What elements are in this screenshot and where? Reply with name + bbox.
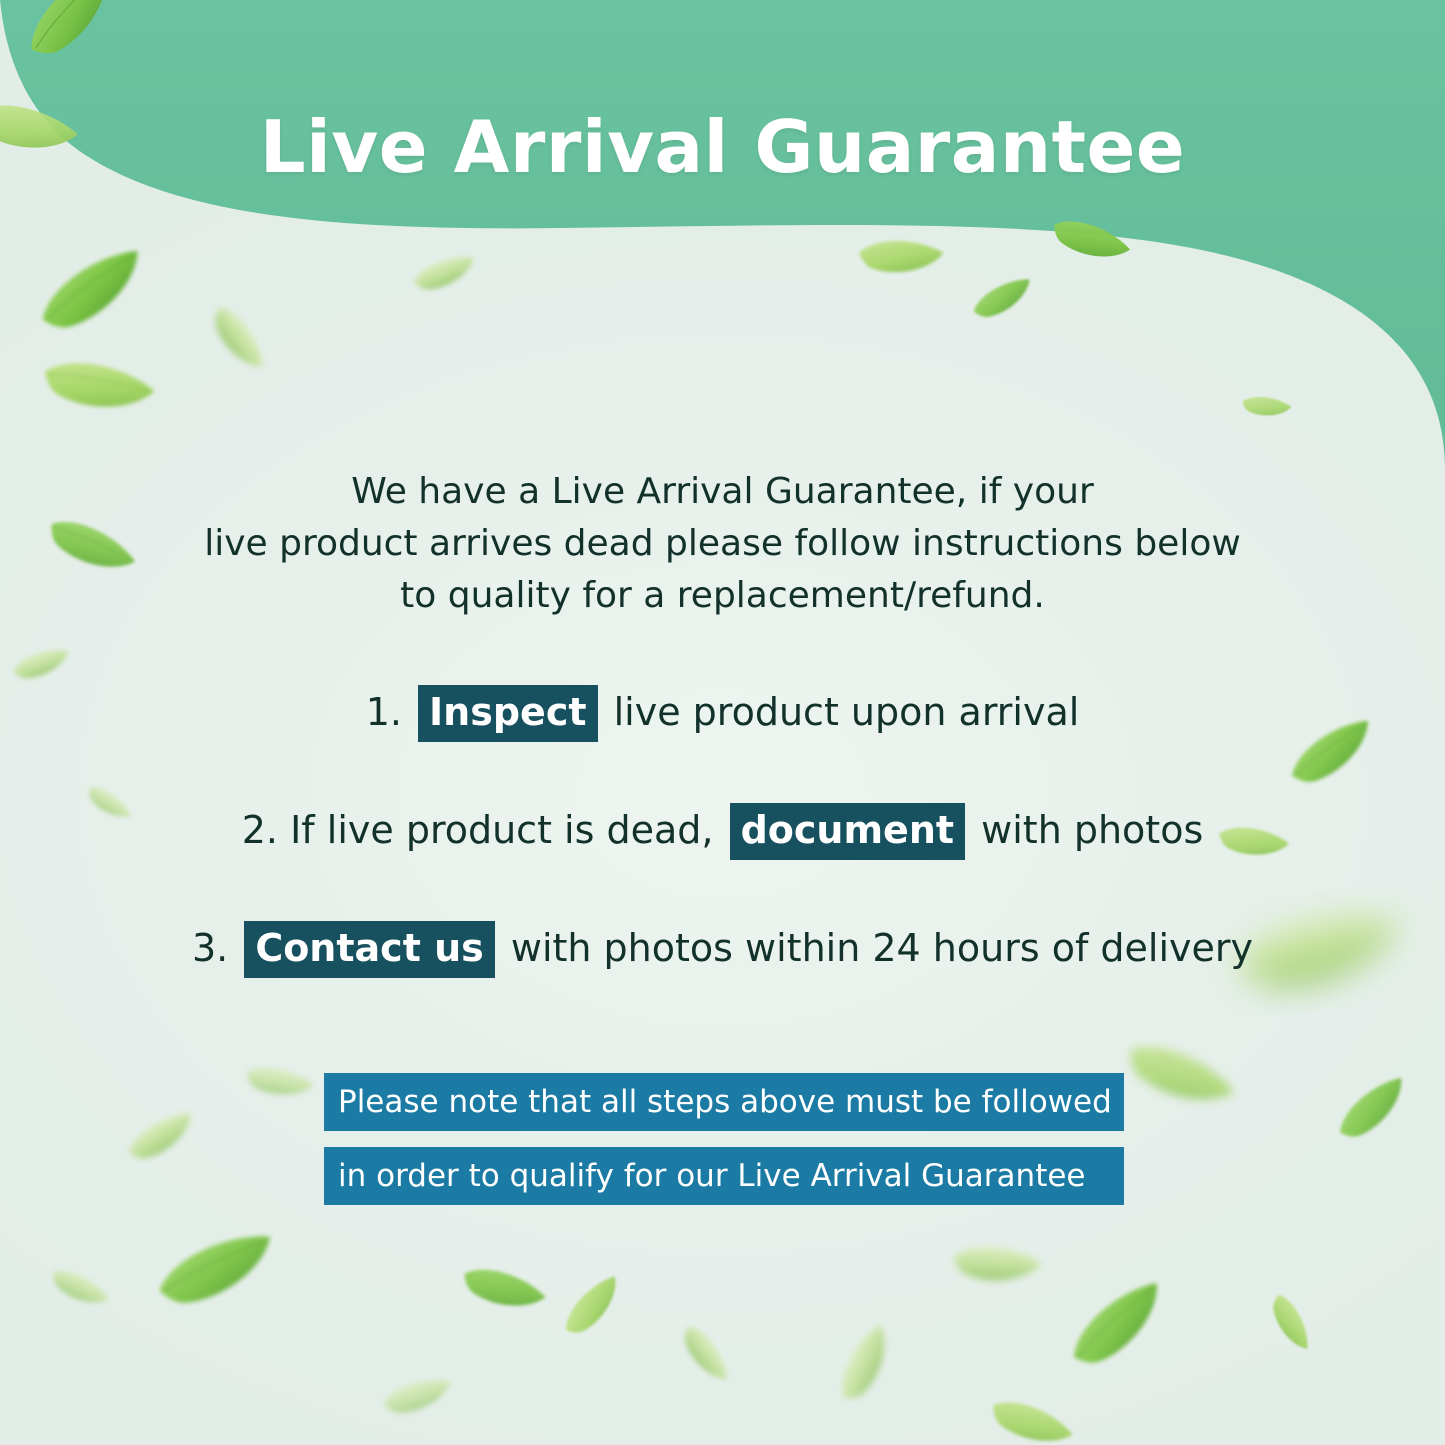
step-3: 3. Contact us with photos within 24 hour… xyxy=(0,918,1445,978)
step-1: 1. Inspect live product upon arrival xyxy=(0,682,1445,742)
step-1-highlight: Inspect xyxy=(418,685,597,742)
intro-paragraph: We have a Live Arrival Guarantee, if you… xyxy=(0,466,1445,622)
intro-line-1: We have a Live Arrival Guarantee, if you… xyxy=(0,466,1445,518)
step-2-highlight: document xyxy=(730,803,965,860)
live-arrival-guarantee-poster: Live Arrival Guarantee We have a Live Ar… xyxy=(0,0,1445,1445)
step-2-number: 2. xyxy=(242,808,278,852)
intro-line-2: live product arrives dead please follow … xyxy=(0,518,1445,570)
step-2-text-before: If live product is dead, xyxy=(290,808,713,852)
step-2: 2. If live product is dead, document wit… xyxy=(0,800,1445,860)
steps-list: 1. Inspect live product upon arrival 2. … xyxy=(0,682,1445,1036)
page-title: Live Arrival Guarantee xyxy=(0,111,1445,183)
intro-line-3: to quality for a replacement/refund. xyxy=(0,570,1445,622)
footer-note-line-1: Please note that all steps above must be… xyxy=(324,1073,1124,1131)
step-3-number: 3. xyxy=(192,926,228,970)
footer-note-spacer xyxy=(324,1131,1124,1147)
step-1-number: 1. xyxy=(366,690,402,734)
footer-notes: Please note that all steps above must be… xyxy=(324,1073,1124,1205)
poster-content: We have a Live Arrival Guarantee, if you… xyxy=(0,0,1445,1445)
footer-note-line-2: in order to qualify for our Live Arrival… xyxy=(324,1147,1124,1205)
step-1-text-after: live product upon arrival xyxy=(614,690,1080,734)
step-2-text-after: with photos xyxy=(981,808,1203,852)
step-3-highlight: Contact us xyxy=(244,921,494,978)
step-3-text-after: with photos within 24 hours of delivery xyxy=(511,926,1253,970)
